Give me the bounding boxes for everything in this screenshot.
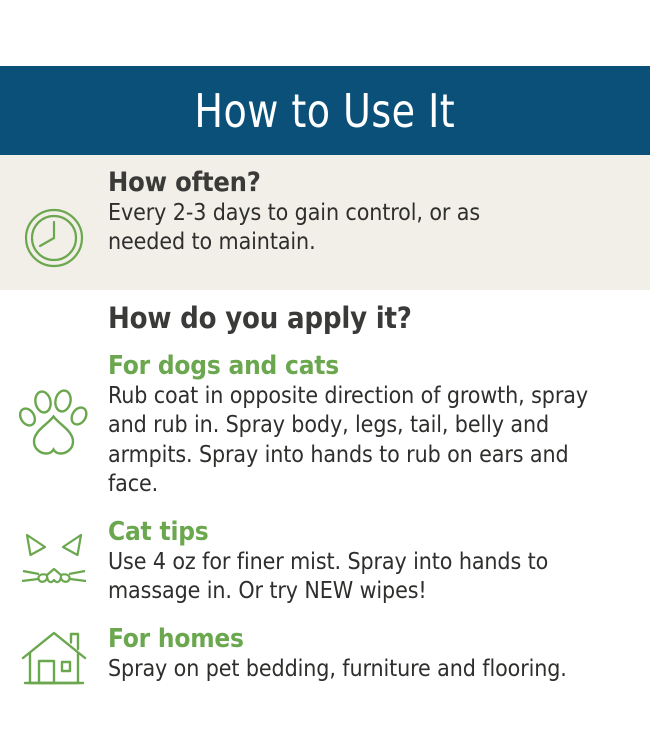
for-homes-text: For homes Spray on pet bedding, furnitur…: [108, 625, 650, 684]
for-dogs-and-cats-body: Rub coat in opposite direction of growth…: [108, 382, 608, 499]
for-dogs-and-cats-subheading: For dogs and cats: [108, 352, 650, 381]
section-how-apply-heading: How do you apply it?: [108, 303, 650, 335]
how-apply-heading: How do you apply it?: [108, 303, 412, 335]
section-for-homes: For homes Spray on pet bedding, furnitur…: [0, 625, 650, 688]
how-often-text: How often? Every 2-3 days to gain contro…: [108, 168, 650, 258]
paw-print-icon: [0, 352, 108, 459]
section-cat-tips: Cat tips Use 4 oz for finer mist. Spray …: [0, 518, 650, 607]
clock-icon: [0, 168, 108, 269]
infographic-page: How to Use It How often? Every 2-3 days …: [0, 0, 650, 750]
how-often-heading: How often?: [108, 168, 650, 198]
for-homes-subheading: For homes: [108, 625, 650, 654]
house-icon: [0, 625, 108, 688]
how-often-body: Every 2-3 days to gain control, or as ne…: [108, 199, 538, 257]
header-banner: How to Use It: [0, 66, 650, 155]
cat-face-icon: [0, 518, 108, 597]
cat-tips-text: Cat tips Use 4 oz for finer mist. Spray …: [108, 518, 650, 607]
section-how-often: How often? Every 2-3 days to gain contro…: [0, 168, 650, 269]
section-for-dogs-and-cats: For dogs and cats Rub coat in opposite d…: [0, 352, 650, 499]
cat-tips-body: Use 4 oz for finer mist. Spray into hand…: [108, 548, 618, 606]
page-title: How to Use It: [195, 88, 456, 134]
for-homes-body: Spray on pet bedding, furniture and floo…: [108, 655, 638, 684]
cat-tips-subheading: Cat tips: [108, 518, 650, 547]
for-dogs-and-cats-text: For dogs and cats Rub coat in opposite d…: [108, 352, 650, 499]
